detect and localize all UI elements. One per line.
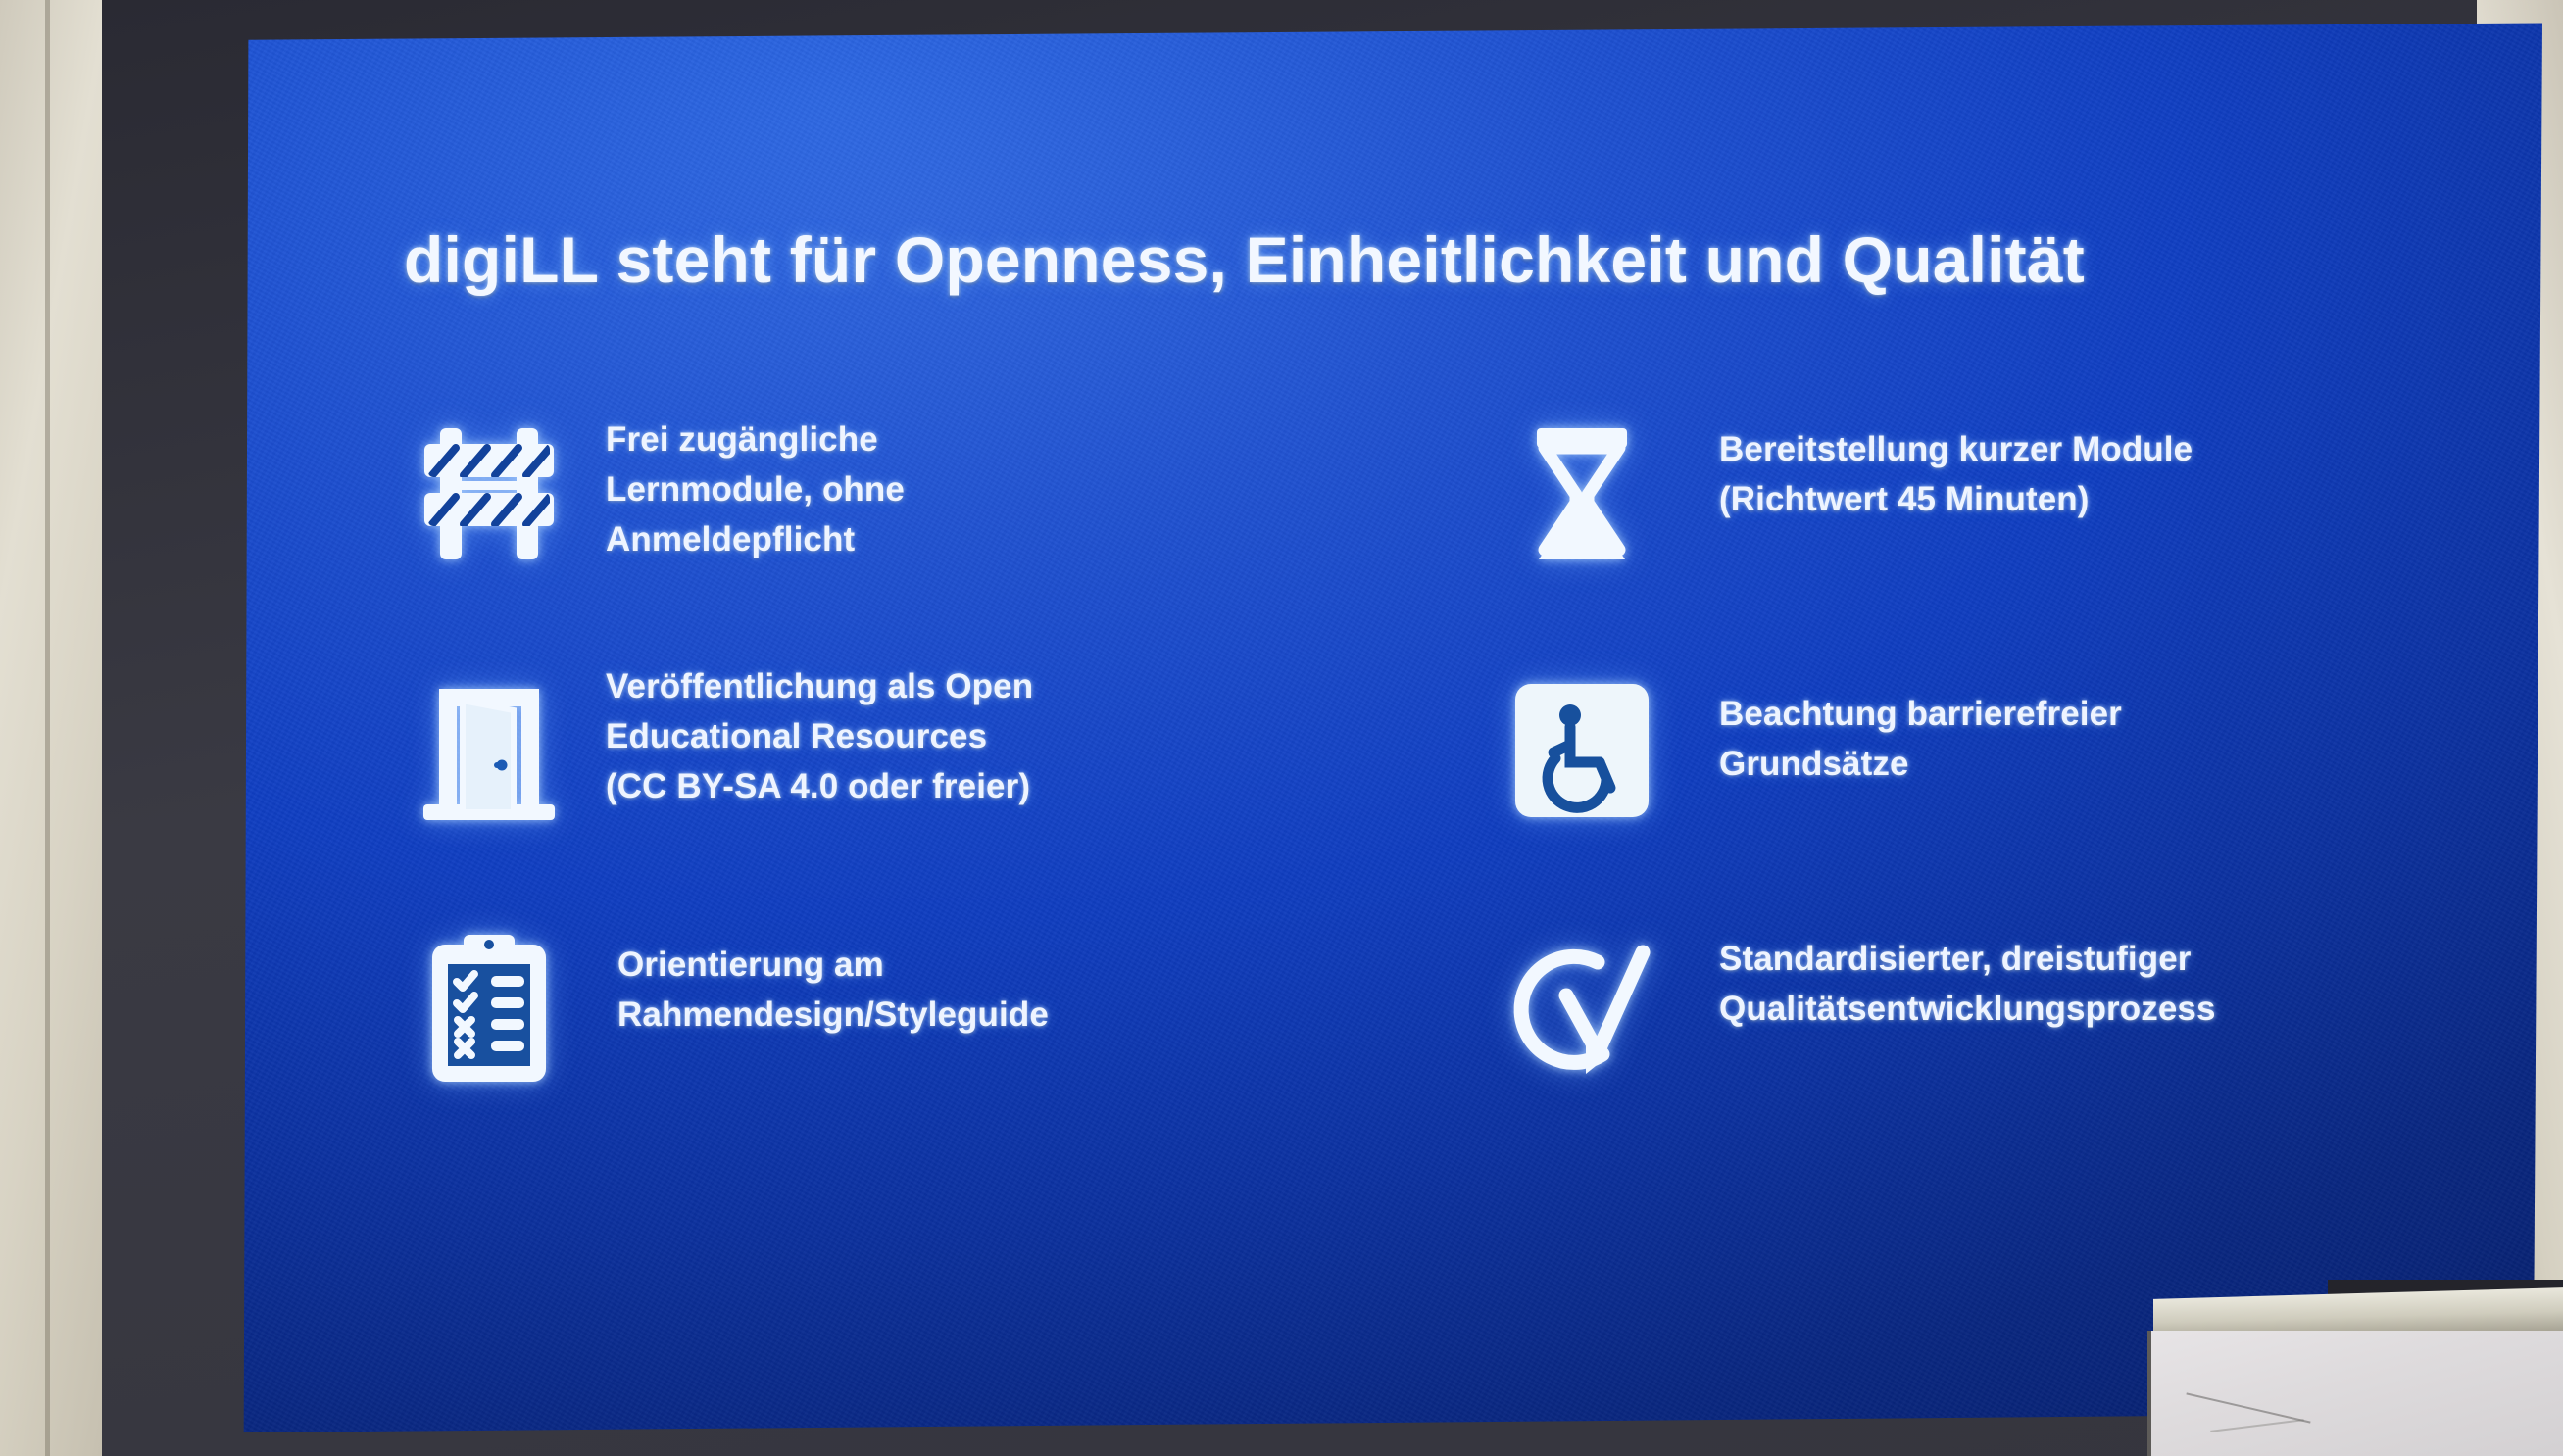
feature-item-qualitaetsentwicklungsprozess: Standardisierter, dreistufiger Qualitäts… [1454, 912, 2464, 1169]
feature-item-label: Frei zugängliche Lernmodule, ohne Anmeld… [592, 399, 905, 564]
flipchart-board [2142, 1280, 2563, 1456]
refresh-check-icon [1454, 912, 1709, 1098]
road-barrier-icon [386, 399, 592, 585]
feature-item-label: Bereitstellung kurzer Module (Richtwert … [1709, 399, 2193, 524]
clipboard-checklist-icon [386, 912, 592, 1098]
wall-left [0, 0, 102, 1456]
feature-item-veroeffentlichung-als-oer: Veröffentlichung als Open Educational Re… [386, 655, 1396, 912]
feature-grid: Frei zugängliche Lernmodule, ohne Anmeld… [386, 399, 2464, 1169]
wheelchair-accessibility-icon [1454, 655, 1709, 842]
page-title: digiLL steht für Openness, Einheitlichke… [404, 225, 2393, 295]
photographed-room-scene: digiLL steht für Openness, Einheitlichke… [0, 0, 2563, 1456]
feature-item-label: Beachtung barrierefreier Grundsätze [1709, 655, 2122, 789]
feature-item-label: Veröffentlichung als Open Educational Re… [592, 655, 1033, 811]
feature-item-orientierung-rahmendesign: Orientierung am Rahmendesign/Styleguide [386, 912, 1396, 1169]
projection-screen-frame: digiLL steht für Openness, Einheitlichke… [102, 0, 2477, 1456]
hourglass-icon [1454, 399, 1709, 585]
flipchart-paper [2147, 1331, 2563, 1456]
flipchart-crease-secondary [2210, 1419, 2304, 1432]
open-door-icon [386, 655, 592, 842]
feature-item-barrierefreie-grundsaetze: Beachtung barrierefreier Grundsätze [1454, 655, 2464, 912]
projected-slide: digiLL steht für Openness, Einheitlichke… [239, 22, 2542, 1432]
feature-item-bereitstellung-kurzer-module: Bereitstellung kurzer Module (Richtwert … [1454, 399, 2464, 655]
feature-item-label: Standardisierter, dreistufiger Qualitäts… [1709, 912, 2216, 1034]
feature-item-frei-zugaengliche-lernmodule: Frei zugängliche Lernmodule, ohne Anmeld… [386, 399, 1396, 655]
feature-item-label: Orientierung am Rahmendesign/Styleguide [592, 912, 1049, 1040]
flipchart-crease [2186, 1392, 2310, 1423]
